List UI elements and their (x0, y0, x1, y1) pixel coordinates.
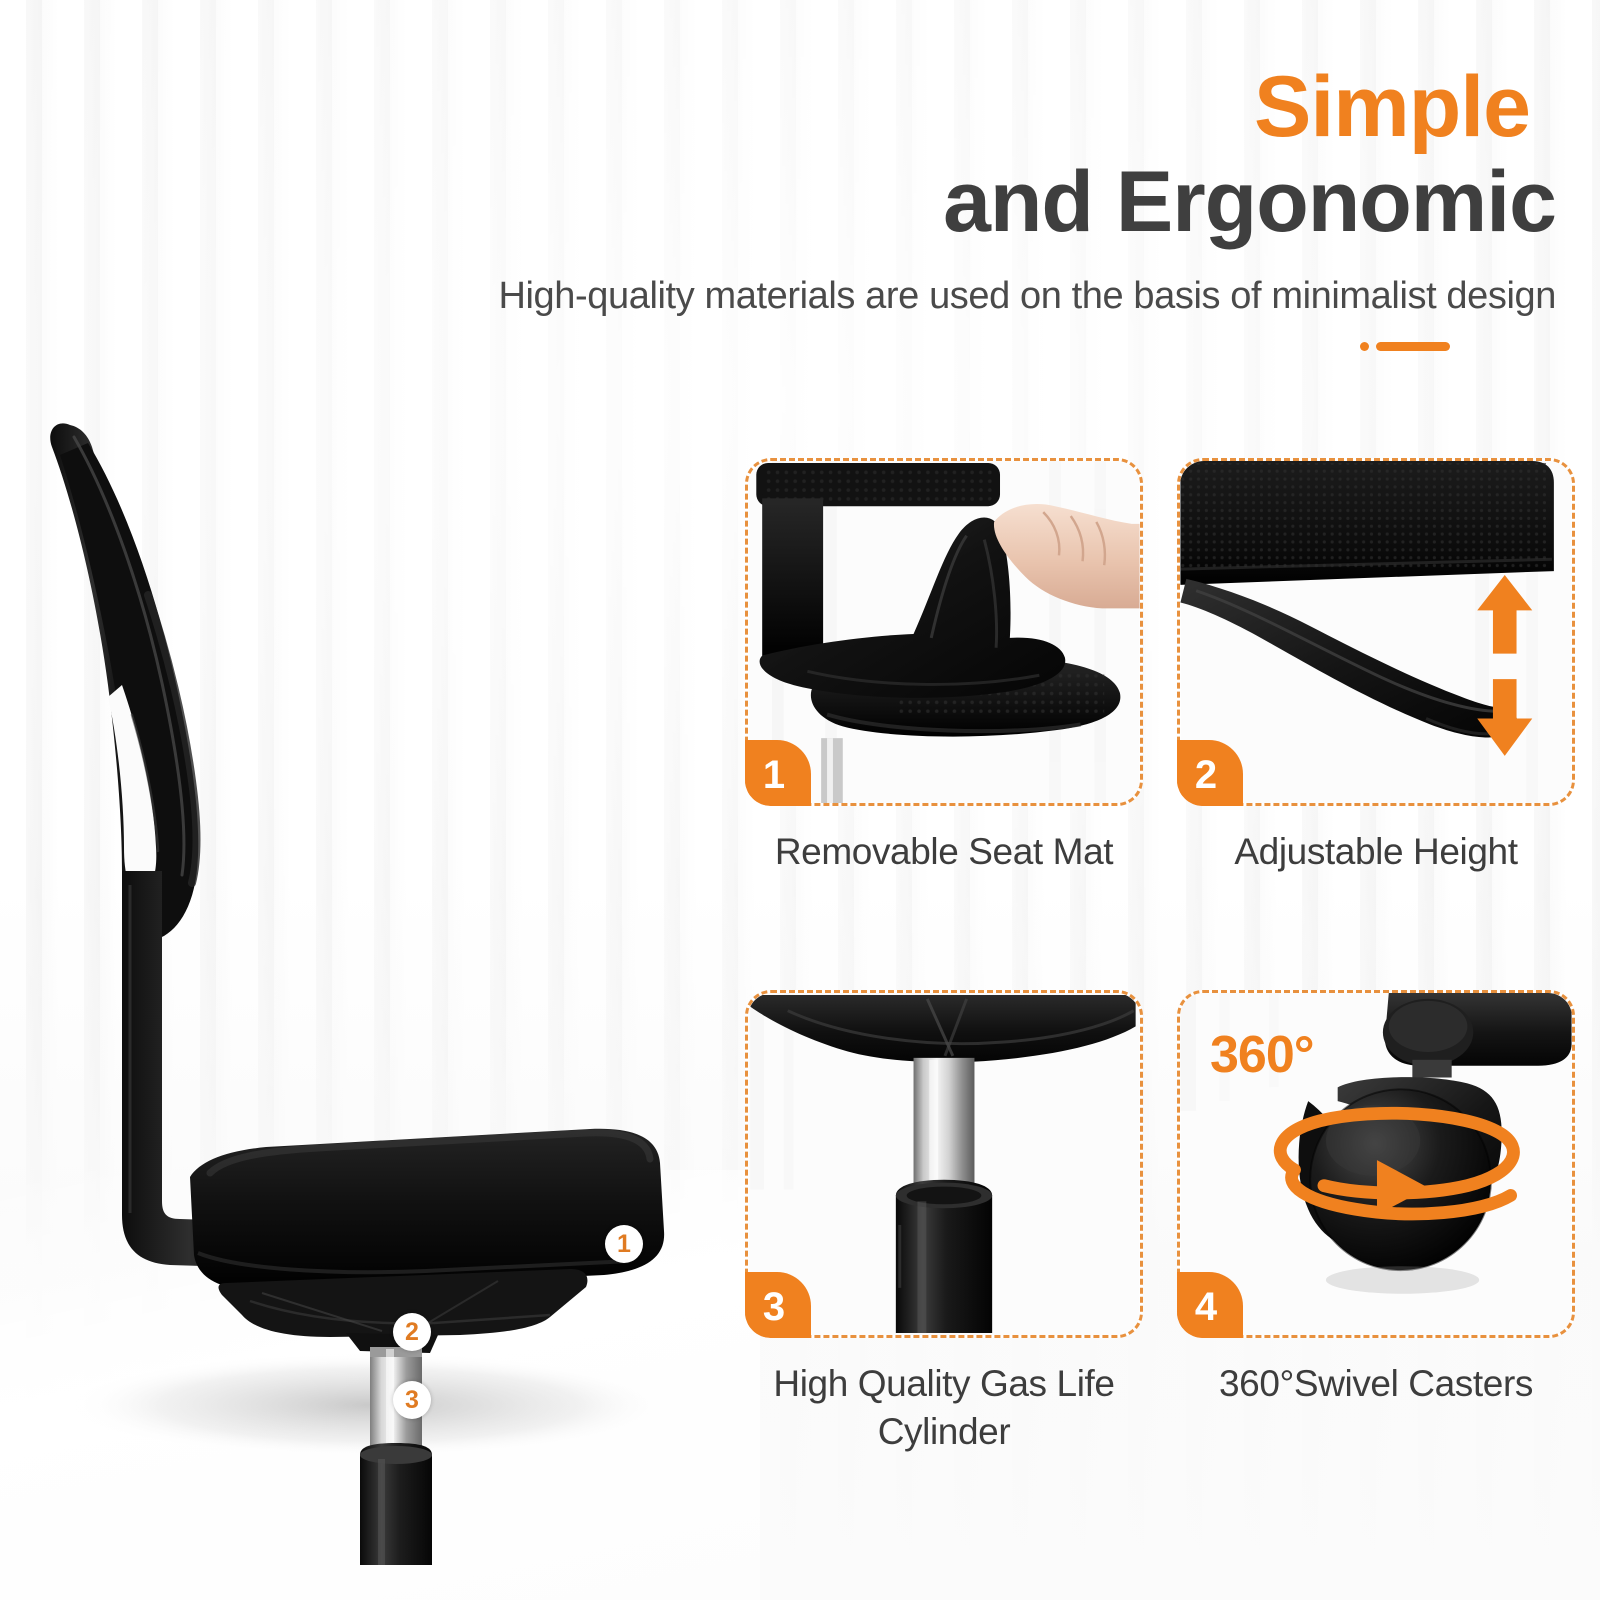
page-title-main: and Ergonomic (240, 154, 1560, 250)
feature-grid: 1 Removable Seat Mat (745, 458, 1575, 1528)
gas-lift-cylinder-icon (748, 993, 1140, 1335)
feature-caption-4: 360°Swivel Casters (1177, 1360, 1575, 1408)
feature-badge-4: 4 (1177, 1272, 1243, 1338)
divider-bar (1376, 342, 1450, 351)
feature-caption-3: High Quality Gas Life Cylinder (745, 1360, 1143, 1456)
accent-divider (240, 342, 1560, 351)
feature-badge-1: 1 (745, 740, 811, 806)
page-subtitle: High-quality materials are used on the b… (240, 272, 1560, 320)
feature-image-frame-3: 3 (745, 990, 1143, 1338)
divider-dot (1360, 342, 1369, 351)
adjustable-height-icon (1180, 461, 1572, 803)
feature-badge-3: 3 (745, 1272, 811, 1338)
feature-caption-1: Removable Seat Mat (745, 828, 1143, 876)
header: Simple and Ergonomic High-quality materi… (240, 60, 1560, 351)
product-marker-2: 2 (393, 1313, 431, 1351)
feature-caption-2: Adjustable Height (1177, 828, 1575, 876)
infographic-page: Simple and Ergonomic High-quality materi… (0, 0, 1600, 1600)
feature-badge-2: 2 (1177, 740, 1243, 806)
feature-image-frame-4: 360° 4 (1177, 990, 1575, 1338)
product-image: 1 2 3 4 (30, 385, 730, 1565)
feature-card-2[interactable]: 2 Adjustable Height (1177, 458, 1575, 938)
swivel-degree-label: 360° (1210, 1029, 1314, 1081)
product-marker-3: 3 (393, 1381, 431, 1419)
chair-illustration (30, 385, 730, 1565)
feature-card-4[interactable]: 360° 4 360°Swivel Casters (1177, 990, 1575, 1470)
feature-card-3[interactable]: 3 High Quality Gas Life Cylinder (745, 990, 1143, 1470)
feature-image-frame-2: 2 (1177, 458, 1575, 806)
feature-card-1[interactable]: 1 Removable Seat Mat (745, 458, 1143, 938)
page-title-accent: Simple (240, 60, 1560, 154)
removable-seat-cover-icon (748, 461, 1140, 803)
product-marker-1: 1 (605, 1225, 643, 1263)
feature-image-frame-1: 1 (745, 458, 1143, 806)
